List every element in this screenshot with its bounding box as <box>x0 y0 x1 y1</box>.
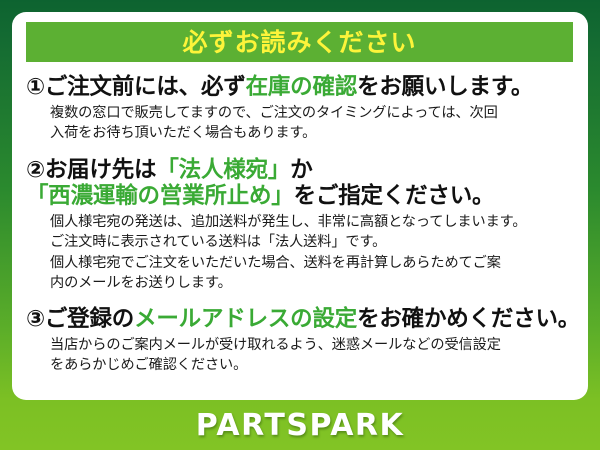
content-panel: 必ずお読みください ①ご注文前には、必ず在庫の確認をお願いします。複数の窓口で販… <box>12 12 588 400</box>
notice-heading: ③ご登録のメールアドレスの設定をお確かめください。 <box>26 306 578 332</box>
notice-body: 複数の窓口で販売してますので、ご注文のタイミングによっては、次回入荷をお待ち頂い… <box>26 103 578 143</box>
notice-heading-text: をご指定ください。 <box>294 183 495 209</box>
notice-heading-text: か <box>290 157 312 183</box>
notice-heading: ②お届け先は「法人様宛」か「西濃運輸の営業所止め」をご指定ください。 <box>26 157 578 210</box>
notice-body-line: ご注文時に表示されている送料は「法人送料」です。 <box>50 232 578 252</box>
notice-body: 当店からのご案内メールが受け取れるよう、迷惑メールなどの受信設定をあらかじめご確… <box>26 335 578 375</box>
notice-item: ③ご登録のメールアドレスの設定をお確かめください。当店からのご案内メールが受け取… <box>12 306 588 376</box>
brand-wordmark: PARTSPARK <box>196 408 405 443</box>
notice-heading-text: ご注文前には、必ず <box>45 74 246 100</box>
notice-heading-highlight: 「西濃運輸の営業所止め」 <box>26 183 294 209</box>
notice-card: 必ずお読みください ①ご注文前には、必ず在庫の確認をお願いします。複数の窓口で販… <box>0 0 600 450</box>
notice-body-line: 個人様宅宛でご注文をいただいた場合、送料を再計算しあらためてご案 <box>50 253 578 273</box>
notice-heading-highlight: 在庫の確認 <box>246 74 358 100</box>
notice-body-line: 複数の窓口で販売してますので、ご注文のタイミングによっては、次回 <box>50 103 578 123</box>
notice-heading-text: をお確かめください。 <box>357 306 580 332</box>
notice-number-marker: ① <box>26 74 45 100</box>
page-title: 必ずお読みください <box>182 30 416 55</box>
notice-item: ①ご注文前には、必ず在庫の確認をお願いします。複数の窓口で販売してますので、ご注… <box>12 74 588 144</box>
notice-list: ①ご注文前には、必ず在庫の確認をお願いします。複数の窓口で販売してますので、ご注… <box>12 70 588 376</box>
notice-heading-text: をお願いします。 <box>357 74 533 100</box>
notice-body-line: 内のメールをお送りします。 <box>50 273 578 293</box>
notice-heading-highlight: 「法人様宛」 <box>156 157 290 183</box>
notice-number-marker: ③ <box>26 306 45 332</box>
notice-heading-highlight: メールアドレスの設定 <box>134 306 357 332</box>
notice-body: 個人様宅宛の発送は、追加送料が発生し、非常に高額となってしまいます。ご注文時に表… <box>26 212 578 293</box>
notice-body-line: 個人様宅宛の発送は、追加送料が発生し、非常に高額となってしまいます。 <box>50 212 578 232</box>
notice-heading-text: お届け先は <box>45 157 157 183</box>
notice-item: ②お届け先は「法人様宛」か「西濃運輸の営業所止め」をご指定ください。個人様宅宛の… <box>12 157 588 293</box>
notice-body-line: 当店からのご案内メールが受け取れるよう、迷惑メールなどの受信設定 <box>50 335 578 355</box>
notice-number-marker: ② <box>26 157 45 183</box>
notice-heading: ①ご注文前には、必ず在庫の確認をお願いします。 <box>26 74 578 100</box>
notice-heading-text: ご登録の <box>45 306 134 332</box>
header-banner: 必ずお読みください <box>26 22 573 62</box>
notice-body-line: 入荷をお待ち頂いただく場合もあります。 <box>50 123 578 143</box>
notice-body-line: をあらかじめご確認ください。 <box>50 355 578 375</box>
brand-footer: PARTSPARK <box>0 400 600 450</box>
